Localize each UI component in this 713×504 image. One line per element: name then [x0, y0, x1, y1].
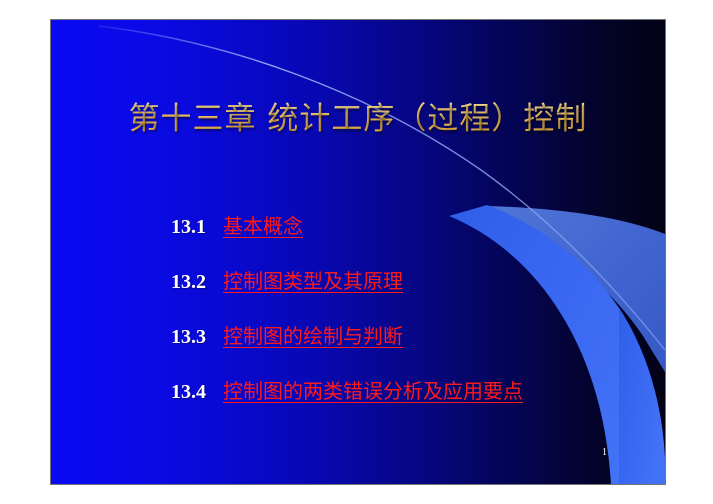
list-item[interactable]: 13.1 基本概念: [171, 210, 665, 265]
section-link-13-2[interactable]: 控制图类型及其原理: [223, 265, 403, 294]
section-list: 13.1 基本概念 13.2 控制图类型及其原理 13.3 控制图的绘制与判断 …: [171, 210, 665, 430]
section-link-13-4[interactable]: 控制图的两类错误分析及应用要点: [223, 375, 523, 404]
list-item[interactable]: 13.2 控制图类型及其原理: [171, 265, 665, 320]
section-link-13-1[interactable]: 基本概念: [223, 210, 303, 239]
section-number: 13.3: [171, 326, 223, 349]
section-link-13-3[interactable]: 控制图的绘制与判断: [223, 320, 403, 349]
section-number: 13.4: [171, 381, 223, 404]
slide-title: 第十三章 统计工序（过程）控制: [51, 98, 665, 140]
section-number: 13.2: [171, 271, 223, 294]
page-number: 1: [602, 447, 607, 458]
presentation-slide: 第十三章 统计工序（过程）控制 13.1 基本概念 13.2 控制图类型及其原理…: [51, 20, 665, 484]
slide-canvas: 第十三章 统计工序（过程）控制 13.1 基本概念 13.2 控制图类型及其原理…: [0, 0, 713, 504]
list-item[interactable]: 13.3 控制图的绘制与判断: [171, 320, 665, 375]
list-item[interactable]: 13.4 控制图的两类错误分析及应用要点: [171, 375, 665, 430]
section-number: 13.1: [171, 216, 223, 239]
